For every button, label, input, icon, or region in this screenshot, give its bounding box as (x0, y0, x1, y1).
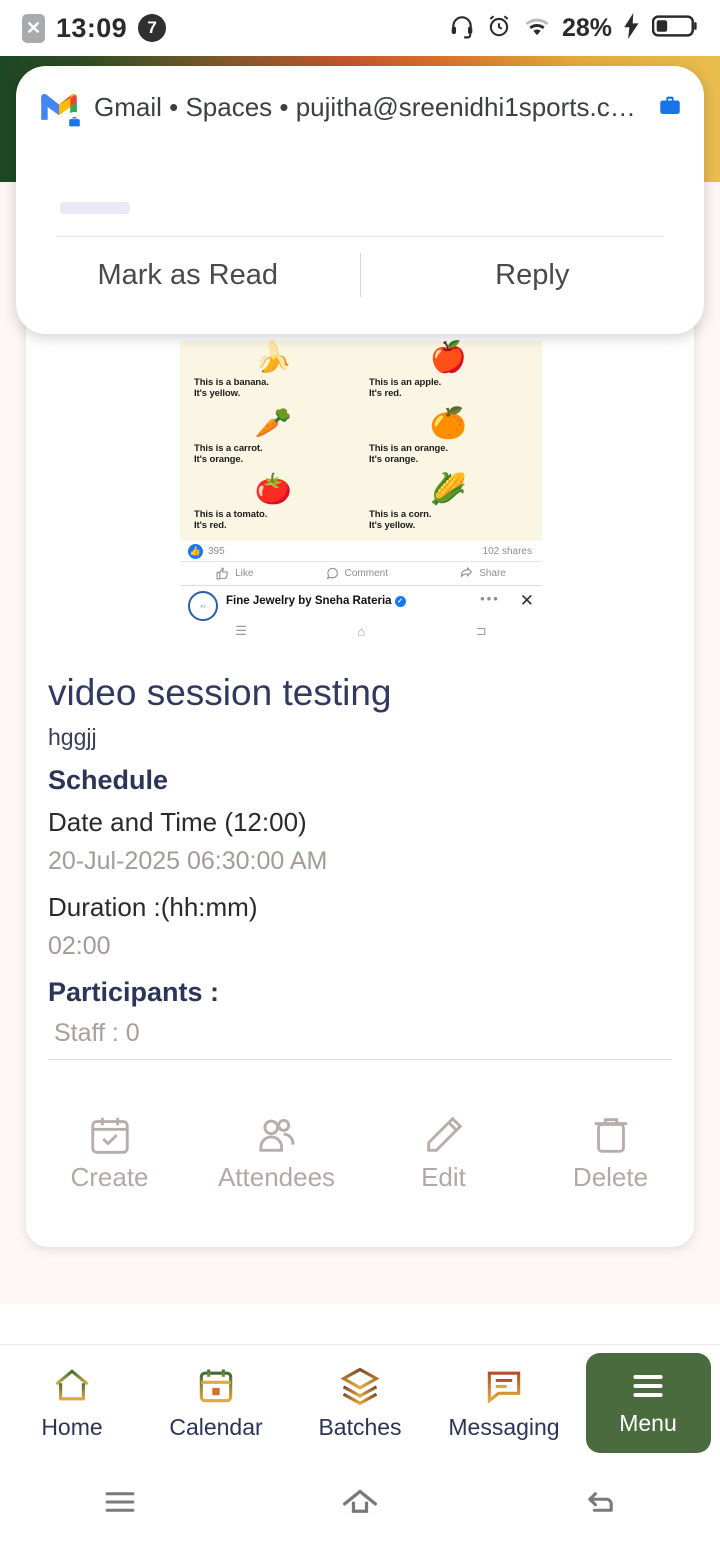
x-icon: ✕ (22, 14, 45, 43)
home-icon (50, 1364, 94, 1408)
trash-icon (588, 1112, 634, 1158)
orange-icon: 🍊 (430, 409, 467, 443)
status-bar-left: ✕ 13:09 7 (22, 13, 166, 44)
back-arrow-icon: ⊐ (476, 623, 487, 639)
staff-count-field[interactable]: Staff : 0 (48, 1019, 672, 1060)
delete-label: Delete (573, 1162, 648, 1193)
pencil-icon (421, 1112, 467, 1158)
mark-as-read-button[interactable]: Mark as Read (16, 259, 360, 292)
fb-vocab-item: 🌽 This is a corn.It's yellow. (361, 475, 536, 541)
session-action-bar: Create Attendees Edit (26, 1112, 694, 1193)
notification-source: Gmail • Spaces • pujitha@sreenidhi1sport… (94, 92, 644, 123)
people-group-icon (254, 1112, 300, 1158)
back-arrow-icon[interactable] (578, 1480, 622, 1524)
fb-post-stats: 👍 395 102 shares (180, 541, 542, 562)
battery-percent: 28% (562, 14, 612, 43)
recents-icon[interactable] (98, 1480, 142, 1524)
status-bar-right: 28% (449, 13, 698, 44)
notification-count-badge: 7 (138, 14, 166, 42)
fb-vocab-item: 🍌 This is a banana.It's yellow. (186, 343, 361, 409)
session-detail-card: 🍌 This is a banana.It's yellow. 🍎 This i… (26, 175, 694, 1247)
calendar-icon (194, 1364, 238, 1408)
fb-more-options-icon: ••• (480, 591, 500, 606)
nav-label-batches: Batches (318, 1414, 401, 1441)
nav-item-batches[interactable]: Batches (298, 1353, 423, 1453)
edit-button[interactable]: Edit (370, 1112, 518, 1193)
reply-button[interactable]: Reply (361, 259, 705, 292)
fb-vocab-item: 🥕 This is a carrot.It's orange. (186, 409, 361, 475)
tomato-icon: 🍅 (255, 475, 292, 509)
charging-bolt-icon (623, 13, 641, 44)
fb-action-row: Like Comment Share (180, 562, 542, 586)
fb-reaction-count: 👍 395 (188, 544, 225, 559)
fb-vocab-item: 🍊 This is an orange.It's orange. (361, 409, 536, 475)
thumbs-up-icon: 👍 (188, 544, 203, 559)
headset-icon (449, 13, 475, 44)
nav-label-menu: Menu (619, 1410, 677, 1437)
status-bar-clock: 13:09 (56, 13, 127, 44)
duration-value: 02:00 (48, 932, 672, 961)
fb-page-header: FJ Fine Jewelry by Sneha Rateria✓ ••• ✕ (180, 586, 542, 621)
nav-item-home[interactable]: Home (10, 1353, 135, 1453)
chat-icon (482, 1364, 526, 1408)
page-title: video session testing (48, 670, 672, 716)
session-info: video session testing hggjj Schedule Dat… (48, 670, 672, 1060)
apple-icon: 🍎 (430, 343, 467, 377)
fb-share-button: Share (460, 567, 506, 580)
attendees-button[interactable]: Attendees (203, 1112, 351, 1193)
battery-icon (652, 13, 698, 44)
recents-icon: ☰ (235, 623, 247, 639)
fb-vocab-grid: 🍌 This is a banana.It's yellow. 🍎 This i… (180, 341, 542, 541)
datetime-label: Date and Time (12:00) (48, 807, 672, 838)
fb-embedded-system-nav: ☰ ⌂ ⊐ (180, 621, 542, 639)
session-description: hggjj (48, 724, 672, 751)
create-label: Create (70, 1162, 148, 1193)
bottom-navigation: Home Calendar Batches Messaging Menu (0, 1344, 720, 1460)
duration-label: Duration :(hh:mm) (48, 892, 672, 923)
corn-icon: 🌽 (430, 475, 467, 509)
datetime-value: 20-Jul-2025 06:30:00 AM (48, 847, 672, 876)
fb-comment-button: Comment (326, 567, 388, 580)
notification-card[interactable]: Gmail • Spaces • pujitha@sreenidhi1sport… (16, 66, 704, 334)
home-outline-icon[interactable] (337, 1479, 383, 1525)
nav-item-menu[interactable]: Menu (586, 1353, 711, 1453)
attendees-label: Attendees (218, 1162, 335, 1193)
notification-action-row: Mark as Read Reply (16, 237, 704, 313)
notification-content-placeholder (60, 202, 130, 214)
participants-heading: Participants : (48, 977, 672, 1008)
fb-like-button: Like (216, 567, 253, 580)
calendar-check-icon (87, 1112, 133, 1158)
alarm-icon (486, 13, 512, 44)
carrot-icon: 🥕 (255, 409, 292, 443)
verified-badge-icon: ✓ (395, 596, 406, 607)
schedule-heading: Schedule (48, 765, 672, 796)
nav-label-calendar: Calendar (169, 1414, 262, 1441)
delete-button[interactable]: Delete (537, 1112, 685, 1193)
fb-share-count: 102 shares (483, 546, 532, 557)
fb-page-name: Fine Jewelry by Sneha Rateria✓ (226, 595, 406, 607)
home-outline-icon: ⌂ (357, 624, 365, 639)
hamburger-icon (626, 1368, 670, 1404)
layers-icon (338, 1364, 382, 1408)
gmail-icon (38, 90, 80, 124)
nav-item-messaging[interactable]: Messaging (442, 1353, 567, 1453)
notification-header: Gmail • Spaces • pujitha@sreenidhi1sport… (16, 66, 704, 124)
edit-label: Edit (421, 1162, 466, 1193)
create-button[interactable]: Create (36, 1112, 184, 1193)
banana-icon: 🍌 (255, 343, 292, 377)
wifi-icon (523, 14, 551, 43)
work-briefcase-icon (65, 112, 84, 131)
work-briefcase-icon (658, 93, 682, 122)
embedded-post-image: 🍌 This is a banana.It's yellow. 🍎 This i… (180, 341, 542, 626)
nav-label-messaging: Messaging (448, 1414, 559, 1441)
avatar: FJ (188, 591, 218, 621)
fb-vocab-item: 🍎 This is an apple.It's red. (361, 343, 536, 409)
close-icon: ✕ (520, 591, 534, 611)
fb-vocab-item: 🍅 This is a tomato.It's red. (186, 475, 361, 541)
nav-label-home: Home (41, 1414, 102, 1441)
system-navigation-bar (0, 1460, 720, 1544)
nav-item-calendar[interactable]: Calendar (154, 1353, 279, 1453)
status-bar: ✕ 13:09 7 28% (0, 0, 720, 56)
